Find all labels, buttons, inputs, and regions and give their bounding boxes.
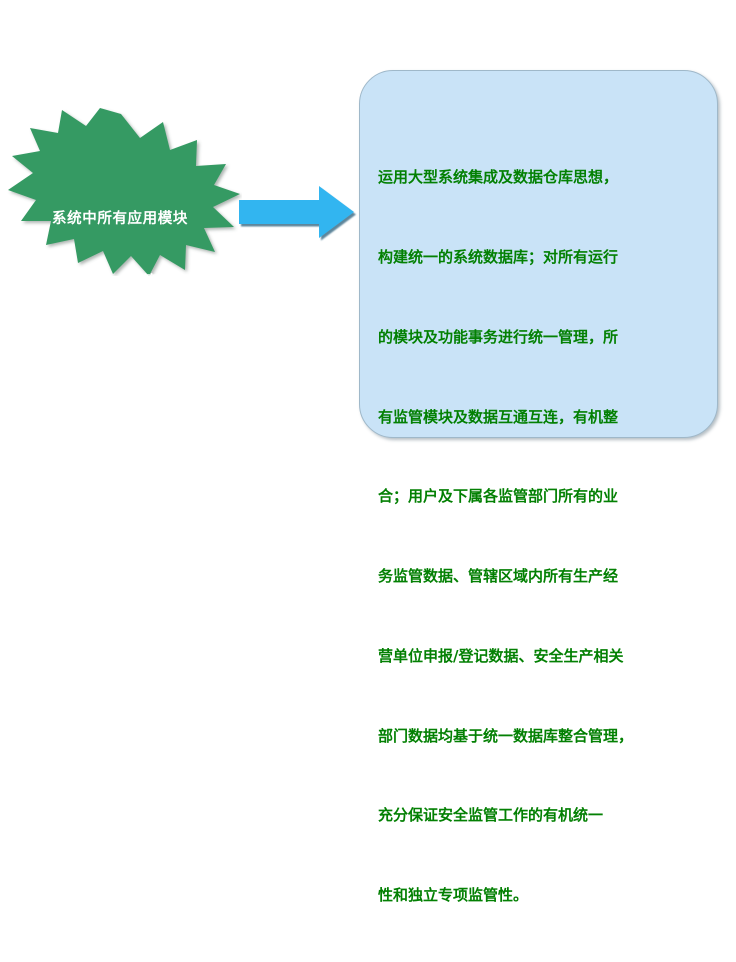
info-line-5: 合；用户及下属各监管部门所有的业 xyxy=(378,483,708,510)
info-line-8: 部门数据均基于统一数据库整合管理， xyxy=(378,723,708,750)
info-line-3: 的模块及功能事务进行统一管理，所 xyxy=(378,324,708,351)
star-burst-shape[interactable] xyxy=(0,108,242,276)
info-panel-text: 运用大型系统集成及数据仓库思想， 构建统一的系统数据库；对所有运行 的模块及功能… xyxy=(378,111,708,962)
star-burst-polygon xyxy=(8,108,240,276)
right-arrow-icon[interactable] xyxy=(236,184,358,242)
info-panel[interactable]: 运用大型系统集成及数据仓库思想， 构建统一的系统数据库；对所有运行 的模块及功能… xyxy=(359,70,718,438)
info-line-4: 有监管模块及数据互通互连，有机整 xyxy=(378,404,708,431)
info-line-2: 构建统一的系统数据库；对所有运行 xyxy=(378,244,708,271)
info-line-7: 营单位申报/登记数据、安全生产相关 xyxy=(378,643,708,670)
info-line-1: 运用大型系统集成及数据仓库思想， xyxy=(378,164,708,191)
info-line-6: 务监管数据、管辖区域内所有生产经 xyxy=(378,563,708,590)
diagram-canvas: 系统中所有应用模块 基于统一的管理 平台及数据库 运用大型系统集成及数据仓库思想… xyxy=(0,0,736,487)
star-label-line-3: 平台及数据库 xyxy=(6,335,234,356)
info-line-10: 性和独立专项监管性。 xyxy=(378,882,708,909)
right-arrow-polygon xyxy=(239,186,354,238)
info-line-9: 充分保证安全监管工作的有机统一 xyxy=(378,802,708,829)
